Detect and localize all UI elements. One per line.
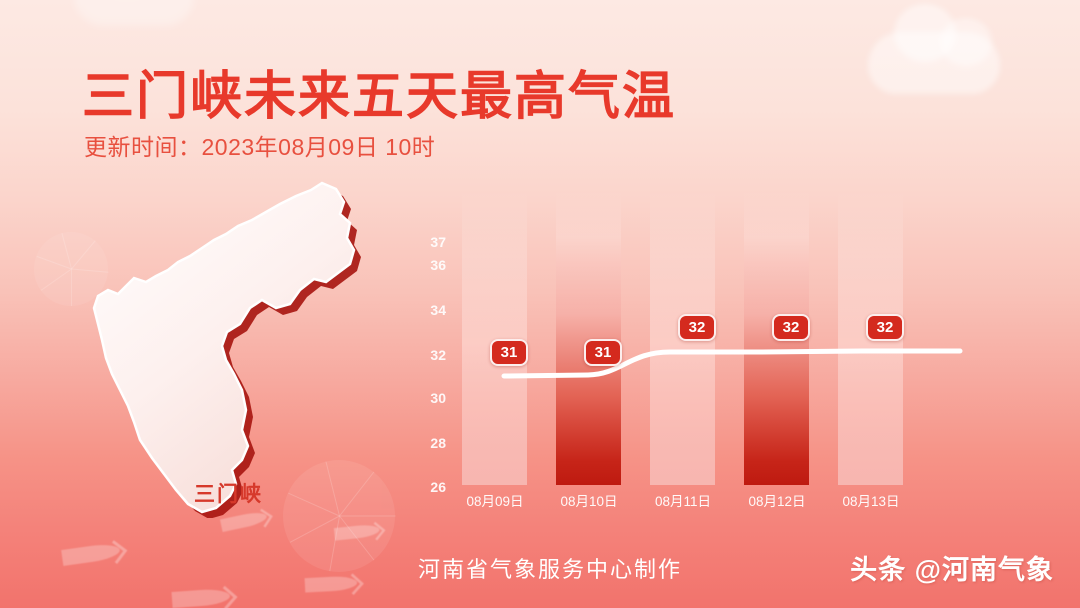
wind-swirl-icon: [172, 588, 231, 608]
y-axis-tick: 30: [430, 390, 446, 406]
y-axis-tick: 36: [430, 257, 446, 273]
temperature-chart: 37 36 34 32 30 28 26 31 31 32 32 32 08月0…: [412, 186, 972, 506]
value-badge: 31: [584, 339, 622, 366]
value-badge: 32: [866, 314, 904, 341]
page-title: 三门峡未来五天最高气温: [82, 54, 676, 129]
wind-swirl-icon: [334, 523, 380, 540]
map-region-label: 三门峡: [194, 478, 263, 508]
wind-swirl-icon: [61, 542, 121, 566]
cloud-decoration-top-right: [868, 32, 1000, 94]
producer-credit: 河南省气象服务中心制作: [418, 552, 682, 584]
y-axis-tick: 28: [430, 435, 446, 451]
value-badge: 32: [678, 314, 716, 341]
weather-infographic: 三门峡未来五天最高气温 更新时间：2023年08月09日 10时 三门峡 37: [0, 0, 1080, 608]
y-axis: 37 36 34 32 30 28 26: [412, 186, 446, 506]
x-axis-label: 08月13日: [816, 490, 926, 510]
x-axis: 08月09日 08月10日 08月11日 08月12日 08月13日: [462, 490, 972, 512]
y-axis-tick: 32: [430, 347, 446, 363]
y-axis-tick: 34: [430, 302, 446, 318]
y-axis-tick: 37: [430, 234, 446, 250]
sanmenxia-map: 三门峡: [64, 178, 394, 518]
watermark-label: 头条 @河南气象: [850, 548, 1054, 587]
wind-swirl-icon: [305, 575, 358, 592]
plot-area: 31 31 32 32 32 08月09日 08月10日 08月11日 08月1…: [462, 186, 972, 506]
cloud-decoration-top-left: [74, 0, 194, 26]
update-time-text: 更新时间：2023年08月09日 10时: [84, 128, 435, 162]
value-badge: 31: [490, 339, 528, 366]
temperature-line: [462, 186, 972, 506]
value-badge: 32: [772, 314, 810, 341]
